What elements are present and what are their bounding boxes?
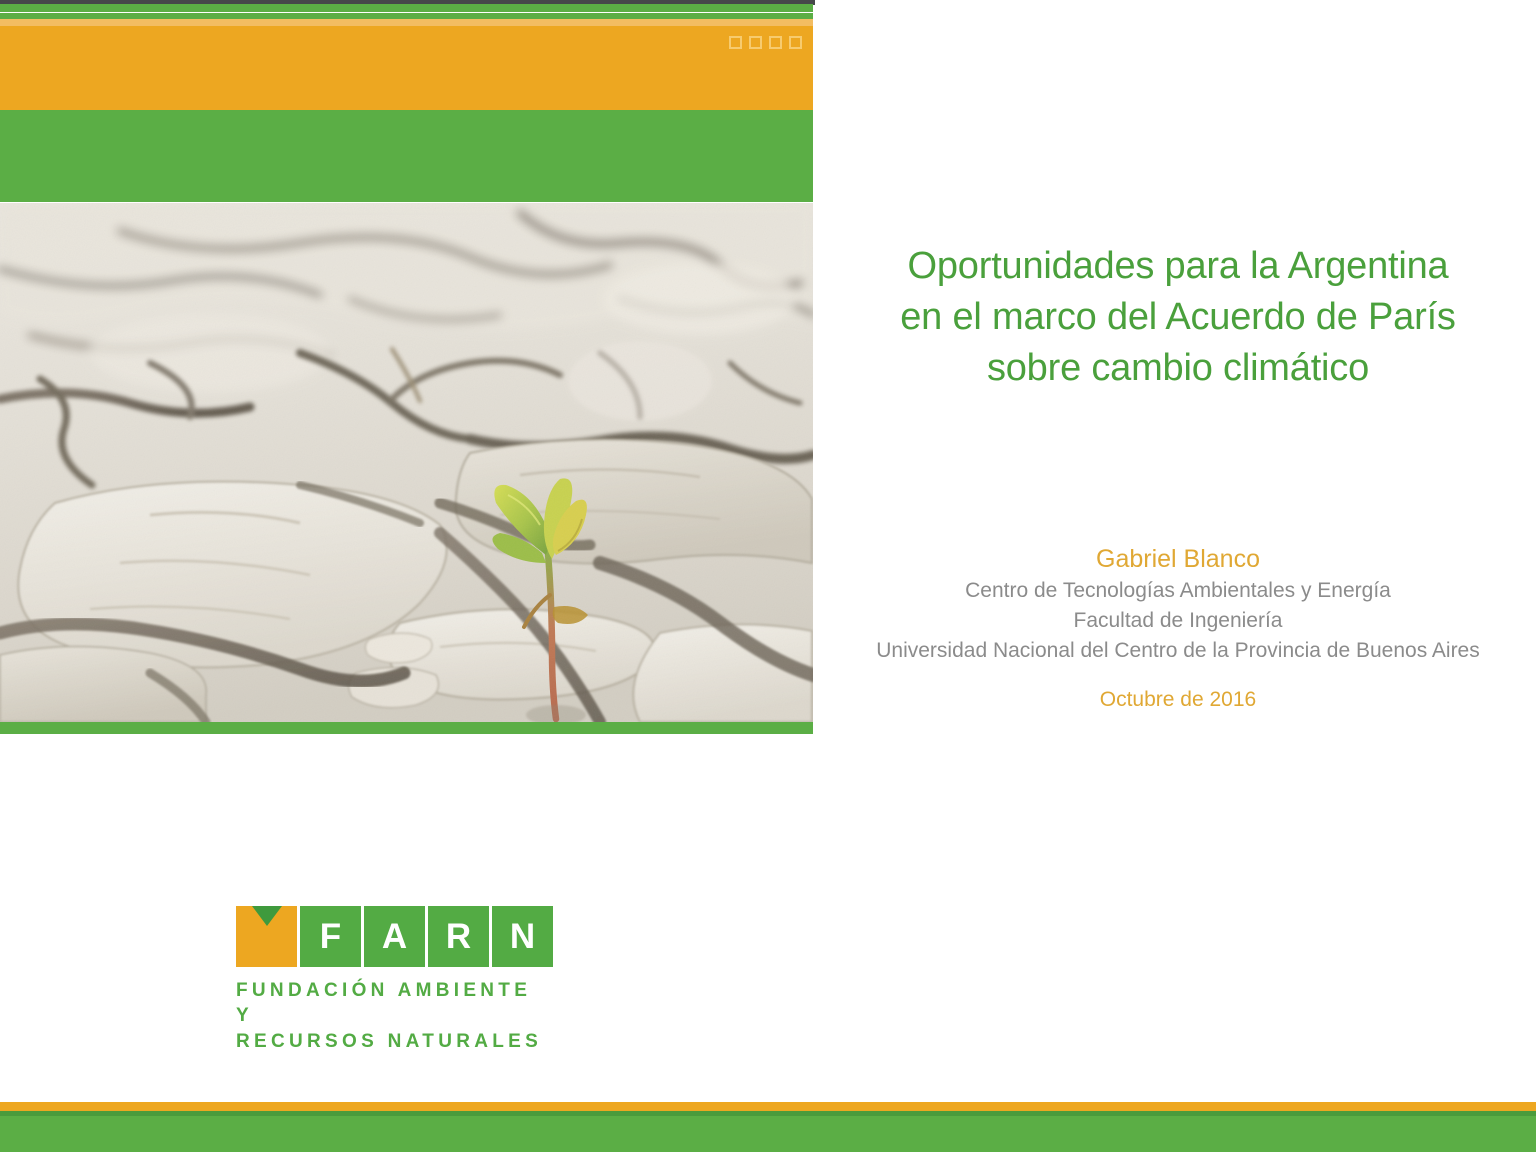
page-title: Oportunidades para la Argentina en el ma… bbox=[820, 241, 1536, 393]
presentation-date: Octubre de 2016 bbox=[820, 688, 1536, 712]
farn-logo-letter-r: R bbox=[428, 906, 489, 967]
decor-square-icon bbox=[729, 36, 742, 49]
page-title-line-3: sobre cambio climático bbox=[820, 343, 1536, 394]
author-affiliation: Centro de Tecnologías Ambientales y Ener… bbox=[820, 576, 1536, 665]
triangle-notch-icon bbox=[252, 906, 282, 926]
farn-logo-subtitle: FUNDACIÓN AMBIENTE Y RECURSOS NATURALES bbox=[236, 978, 556, 1054]
author-block: Gabriel Blanco Centro de Tecnologías Amb… bbox=[820, 543, 1536, 665]
decor-square-icon bbox=[749, 36, 762, 49]
farn-subtitle-line-1: FUNDACIÓN AMBIENTE Y bbox=[236, 978, 556, 1029]
top-light-orange-strip bbox=[0, 19, 813, 26]
farn-subtitle-line-2: RECURSOS NATURALES bbox=[236, 1029, 556, 1054]
decor-squares-group bbox=[729, 36, 802, 49]
page-title-line-1: Oportunidades para la Argentina bbox=[820, 241, 1536, 292]
author-name: Gabriel Blanco bbox=[820, 543, 1536, 576]
top-green-strip-upper bbox=[0, 4, 813, 12]
affiliation-line-3: Universidad Nacional del Centro de la Pr… bbox=[820, 636, 1536, 666]
farn-logo-mark-tile bbox=[236, 906, 297, 967]
top-orange-band bbox=[0, 26, 813, 110]
bottom-green-bar bbox=[0, 1116, 1536, 1152]
dry-earth-illustration bbox=[0, 203, 813, 722]
farn-logo-letter-n: N bbox=[492, 906, 553, 967]
affiliation-line-2: Facultad de Ingeniería bbox=[820, 606, 1536, 636]
decor-square-icon bbox=[789, 36, 802, 49]
bottom-orange-bar bbox=[0, 1102, 1536, 1111]
top-green-band bbox=[0, 110, 813, 202]
farn-logo-tiles: F A R N bbox=[236, 906, 556, 967]
page-title-line-2: en el marco del Acuerdo de París bbox=[820, 292, 1536, 343]
farn-logo-letter-a: A bbox=[364, 906, 425, 967]
cover-photo-dry-earth bbox=[0, 203, 813, 722]
farn-logo-letter-f: F bbox=[300, 906, 361, 967]
title-text-column: Oportunidades para la Argentina en el ma… bbox=[820, 0, 1536, 1152]
photo-underline-bar bbox=[0, 722, 813, 734]
decor-square-icon bbox=[769, 36, 782, 49]
affiliation-line-1: Centro de Tecnologías Ambientales y Ener… bbox=[820, 576, 1536, 606]
farn-logo: F A R N FUNDACIÓN AMBIENTE Y RECURSOS NA… bbox=[236, 906, 556, 1054]
title-slide: Oportunidades para la Argentina en el ma… bbox=[0, 0, 1536, 1152]
